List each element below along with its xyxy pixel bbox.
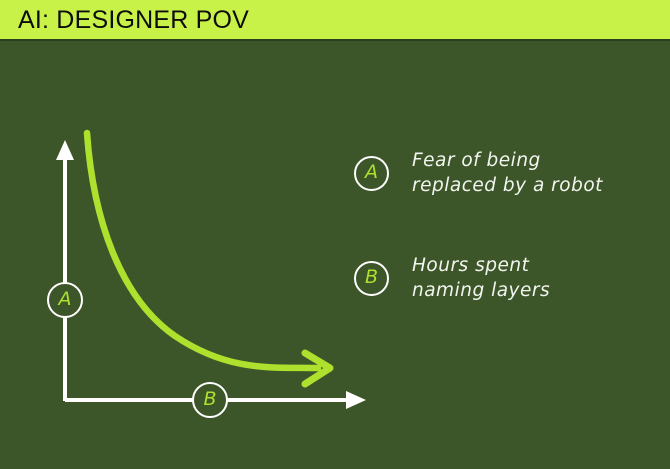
axis-marker-b-letter: B	[203, 390, 216, 409]
y-axis-arrowhead-icon	[56, 140, 74, 160]
slide-canvas: AI: DESIGNER POV A B	[0, 0, 670, 469]
legend-badge-b: B	[354, 261, 389, 296]
legend-badge-a-letter: A	[365, 163, 378, 182]
legend-label-b: Hours spent naming layers	[412, 253, 550, 303]
legend-badge-a: A	[354, 156, 389, 191]
legend: A Fear of being replaced by a robot B Ho…	[354, 148, 654, 358]
legend-item-b[interactable]: B Hours spent naming layers	[354, 253, 654, 303]
header-bar: AI: DESIGNER POV	[0, 0, 670, 41]
legend-label-a: Fear of being replaced by a robot	[412, 148, 603, 198]
axis-marker-a-letter: A	[59, 290, 72, 309]
page-title: AI: DESIGNER POV	[18, 6, 249, 35]
decay-curve	[87, 133, 318, 368]
axis-marker-b[interactable]: B	[192, 382, 228, 418]
chart-area: A B A Fear of being replaced by a robot …	[0, 43, 670, 469]
x-axis-arrowhead-icon	[346, 391, 366, 409]
legend-badge-b-letter: B	[365, 268, 378, 287]
axis-marker-a[interactable]: A	[47, 282, 83, 318]
legend-item-a[interactable]: A Fear of being replaced by a robot	[354, 148, 654, 198]
